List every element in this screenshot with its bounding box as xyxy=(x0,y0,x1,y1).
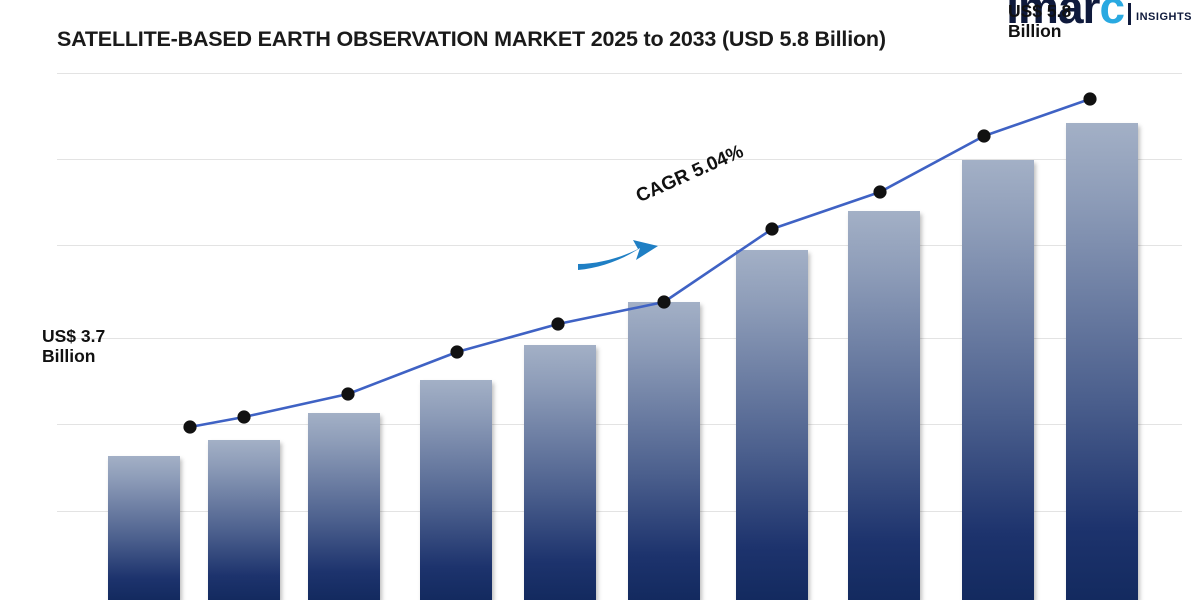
end-value-label: US$ 5.8 Billion xyxy=(1008,1,1071,41)
trend-line xyxy=(57,73,1182,600)
logo-divider-icon xyxy=(1128,3,1131,25)
logo-word-accent: c xyxy=(1099,0,1124,33)
chart-canvas: imarc INSIGHTS SATELLITE-BASED EARTH OBS… xyxy=(0,0,1200,600)
start-value-label: US$ 3.7 Billion xyxy=(42,326,105,366)
page-title: SATELLITE-BASED EARTH OBSERVATION MARKET… xyxy=(57,27,886,52)
logo-subtitle: INSIGHTS xyxy=(1136,12,1192,23)
plot-area xyxy=(57,73,1182,600)
right-arrow-icon xyxy=(578,240,670,276)
